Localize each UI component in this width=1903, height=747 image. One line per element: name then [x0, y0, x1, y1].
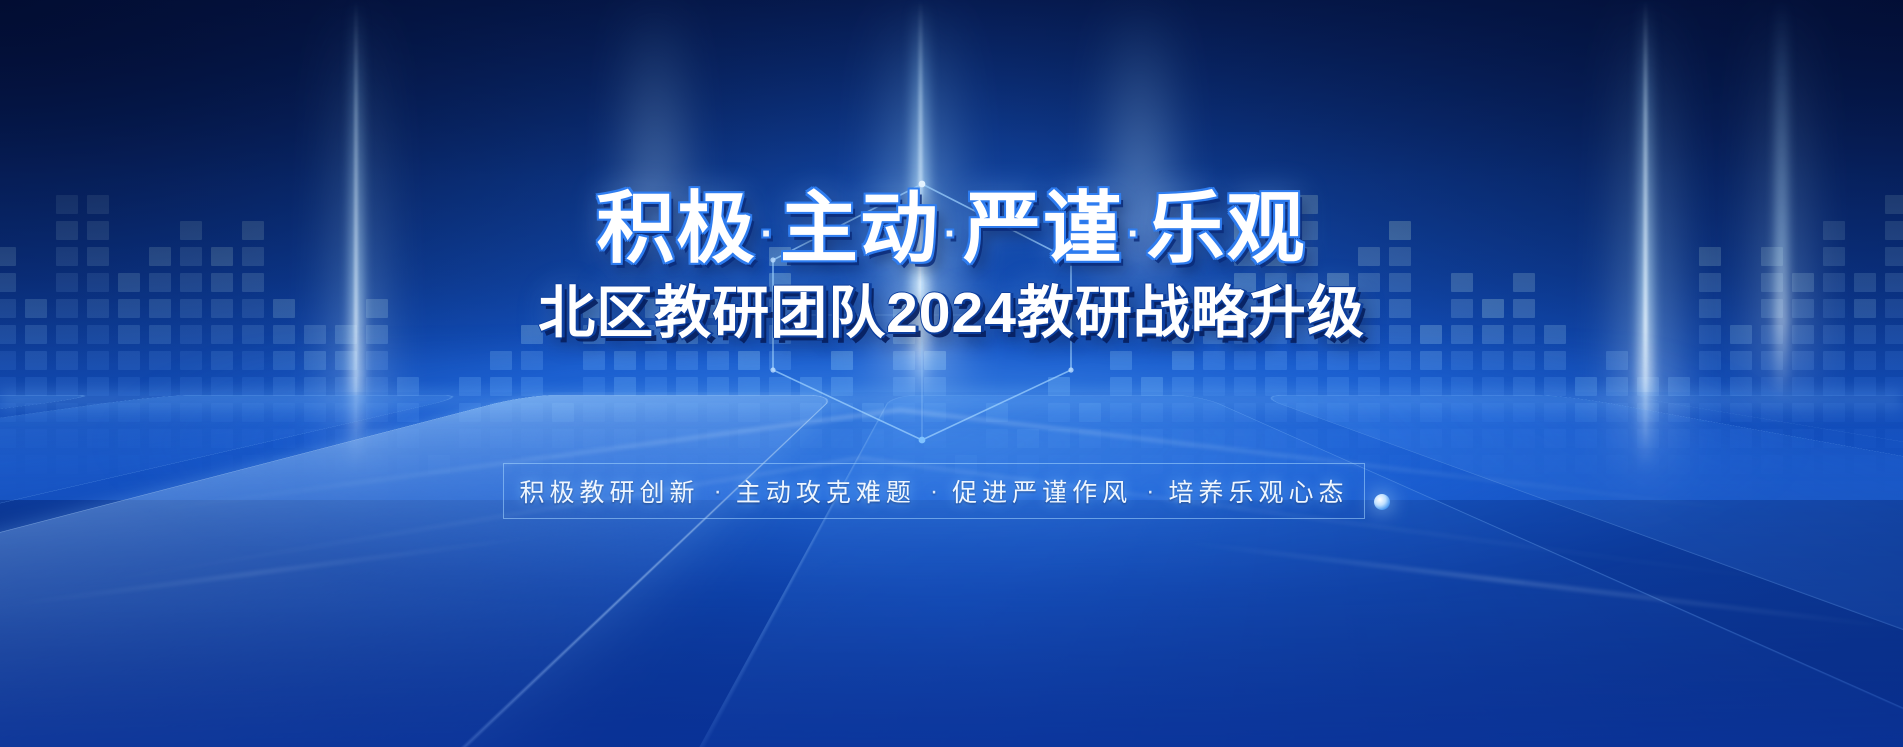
title-part-2: 主动 [780, 184, 940, 272]
title-separator-3: · [1127, 212, 1142, 256]
glow-orb [1374, 494, 1390, 510]
tagline: 积极教研创新·主动攻克难题·促进严谨作风·培养乐观心态 [519, 473, 1348, 509]
tagline-separator-2: · [930, 477, 938, 506]
tagline-item-1: 积极教研创新 [519, 473, 699, 509]
page-subtitle: 北区教研团队2024教研战略升级 [538, 280, 1365, 346]
tagline-box: 积极教研创新·主动攻克难题·促进严谨作风·培养乐观心态 [503, 463, 1365, 519]
title-part-3: 严谨 [963, 184, 1123, 272]
tagline-separator-3: · [1146, 477, 1154, 506]
title-separator-2: · [944, 212, 959, 256]
title-part-1: 积极 [596, 184, 756, 272]
tagline-item-4: 培养乐观心态 [1169, 473, 1349, 509]
tagline-item-2: 主动攻克难题 [736, 473, 916, 509]
text-content: 积极·主动·严谨·乐观 北区教研团队2024教研战略升级 [0, 0, 1903, 747]
banner-root: 积极·主动·严谨·乐观 北区教研团队2024教研战略升级 积极教研创新·主动攻克… [0, 0, 1903, 747]
tagline-item-3: 促进严谨作风 [952, 473, 1132, 509]
tagline-separator-1: · [713, 477, 721, 506]
title-separator-1: · [760, 212, 775, 256]
page-title: 积极·主动·严谨·乐观 [596, 186, 1306, 276]
title-part-4: 乐观 [1147, 184, 1307, 272]
